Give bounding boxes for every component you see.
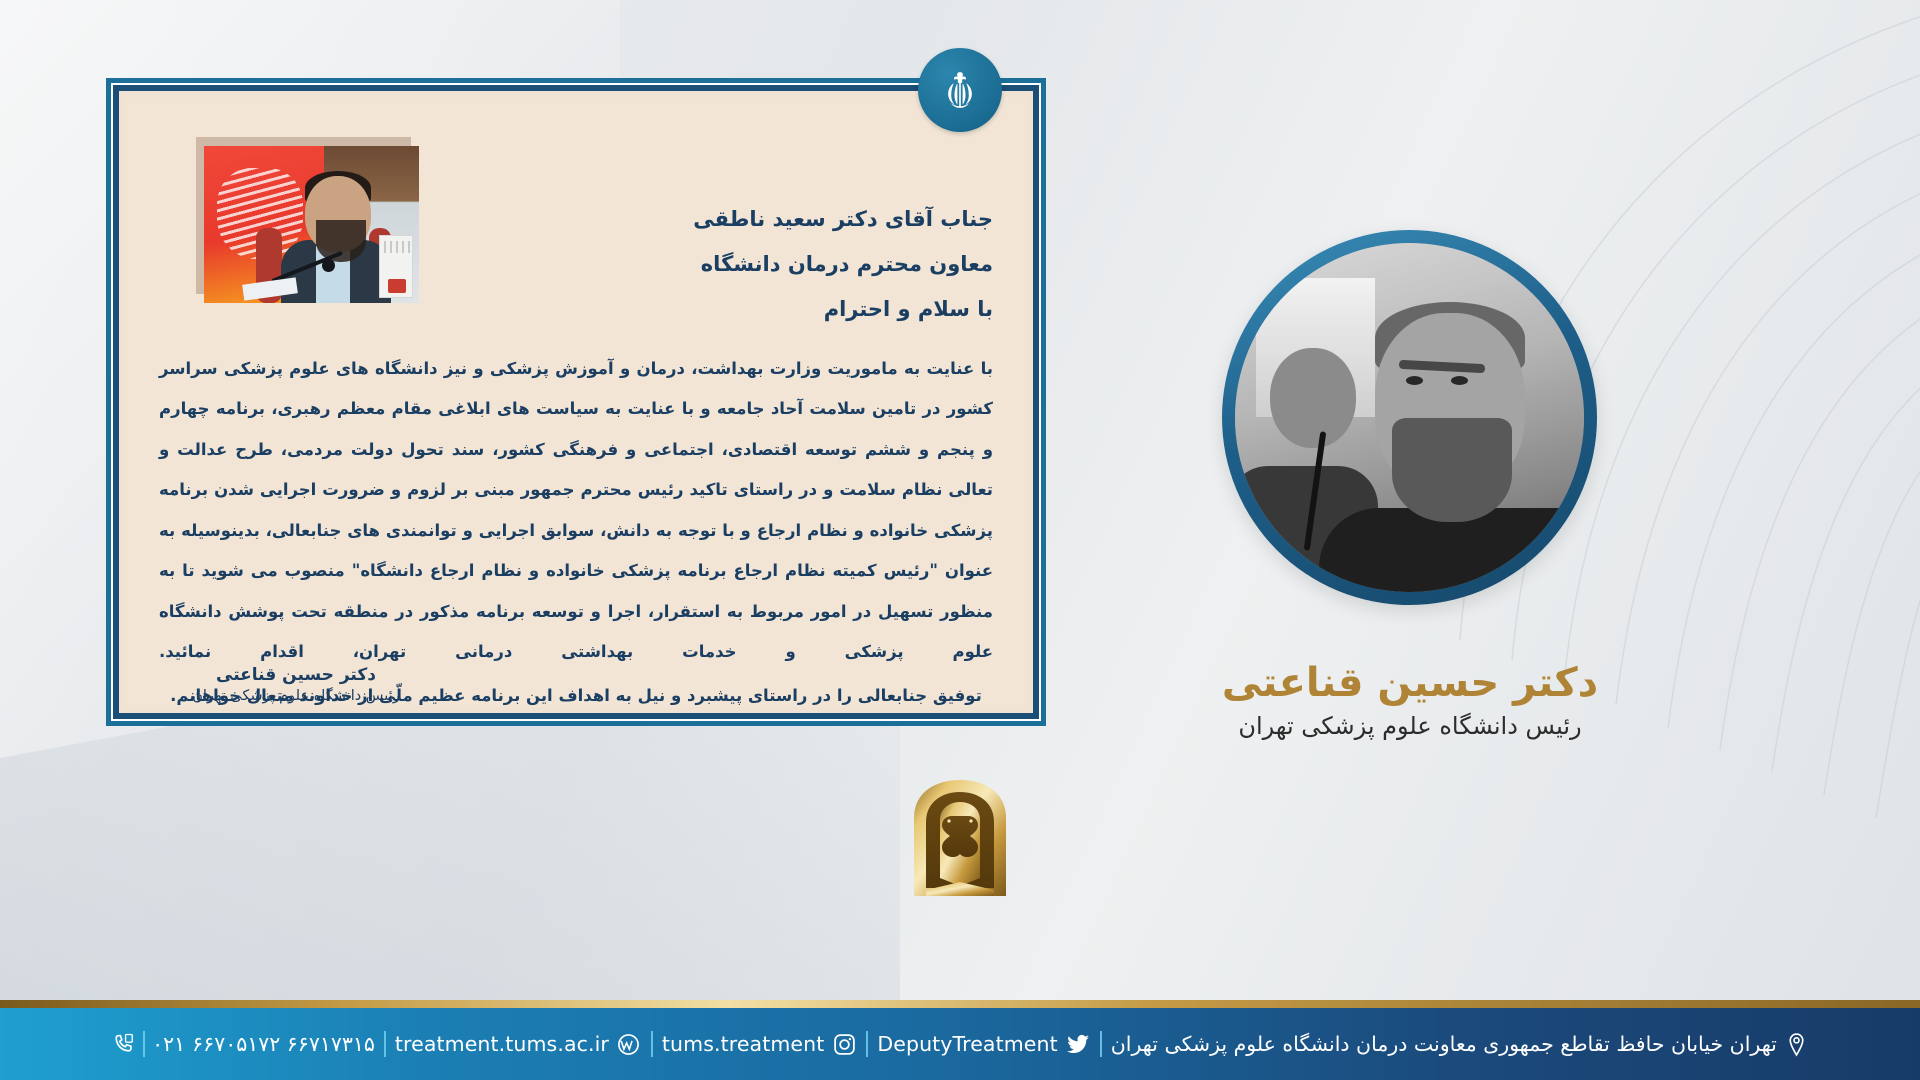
footer-twitter[interactable]: DeputyTreatment — [868, 1031, 1099, 1057]
location-icon — [1784, 1031, 1810, 1057]
tums-gold-logo-icon — [906, 778, 1014, 902]
footer-divider — [651, 1031, 653, 1057]
instagram-icon[interactable] — [831, 1031, 857, 1057]
footer-divider — [1100, 1031, 1102, 1057]
portrait-ring — [1222, 230, 1597, 605]
portrait-role: رئیس دانشگاه علوم پزشکی تهران — [1140, 712, 1680, 740]
iran-emblem-icon — [918, 48, 1002, 132]
footer-instagram[interactable]: tums.treatment — [653, 1031, 866, 1057]
salutation-line-3: با سلام و احترام — [473, 287, 993, 332]
footer-instagram-handle[interactable]: tums.treatment — [662, 1032, 824, 1056]
footer-address-text: تهران خیابان حافظ تقاطع جمهوری معاونت در… — [1111, 1032, 1777, 1056]
salutation-line-1: جناب آقای دکتر سعید ناطقی — [473, 197, 993, 242]
footer-twitter-handle[interactable]: DeputyTreatment — [877, 1032, 1057, 1056]
letter-signature: دکتر حسین قناعتی رئیس دانشگاه علوم پزشکی… — [181, 665, 411, 704]
letter-photo — [204, 146, 419, 303]
letter-salutation: جناب آقای دکتر سعید ناطقی معاون محترم در… — [473, 197, 993, 332]
phone-icon — [110, 1031, 136, 1057]
footer-divider — [384, 1031, 386, 1057]
web-icon[interactable] — [616, 1031, 642, 1057]
footer-divider — [866, 1031, 868, 1057]
footer-website-url[interactable]: treatment.tums.ac.ir — [395, 1032, 609, 1056]
signature-role: رئیس دانشگاه علوم پزشکی تهران — [181, 688, 411, 704]
footer-bar: تهران خیابان حافظ تقاطع جمهوری معاونت در… — [0, 1008, 1920, 1080]
footer-gold-strip — [0, 1000, 1920, 1008]
portrait-name: دکتر حسین قناعتی — [1140, 660, 1680, 706]
salutation-line-2: معاون محترم درمان دانشگاه — [473, 242, 993, 287]
twitter-icon[interactable] — [1065, 1031, 1091, 1057]
footer-website[interactable]: treatment.tums.ac.ir — [386, 1031, 651, 1057]
footer-address: تهران خیابان حافظ تقاطع جمهوری معاونت در… — [1102, 1031, 1819, 1057]
letter-body: با عنایت به ماموریت وزارت بهداشت، درمان … — [159, 349, 993, 717]
footer-phone-area-code: ۰۲۱ — [152, 1032, 185, 1056]
signature-name: دکتر حسین قناعتی — [181, 665, 411, 685]
footer-phone: ۶۶۷۱۷۳۱۵ ۶۶۷۰۵۱۷۲ ۰۲۱ — [101, 1031, 384, 1057]
portrait-photo — [1235, 243, 1584, 592]
footer-divider — [143, 1031, 145, 1057]
letter-body-paragraph: با عنایت به ماموریت وزارت بهداشت، درمان … — [159, 349, 993, 672]
portrait-caption: دکتر حسین قناعتی رئیس دانشگاه علوم پزشکی… — [1140, 660, 1680, 740]
letter-photo-frame — [196, 137, 411, 294]
footer-phone-numbers: ۶۶۷۱۷۳۱۵ ۶۶۷۰۵۱۷۲ — [192, 1032, 375, 1056]
